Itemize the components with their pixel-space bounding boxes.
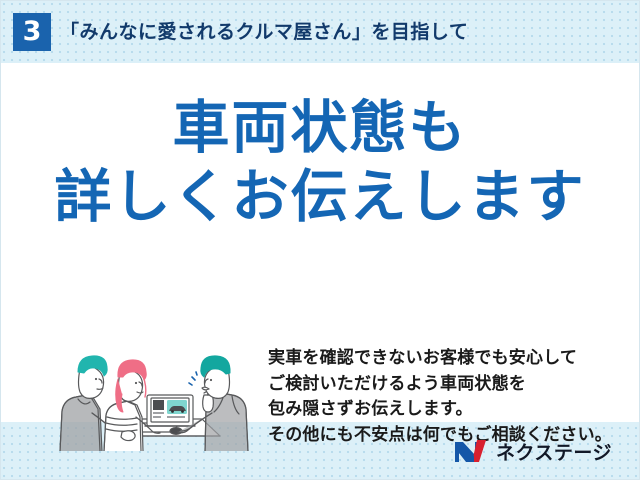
content-panel: 車両状態も 詳しくお伝えします	[0, 63, 640, 422]
nextage-logo-text: ネクステージ	[496, 438, 612, 465]
headline-line-2: 詳しくお伝えします	[0, 164, 640, 231]
headline-line-1: 車両状態も	[0, 95, 640, 162]
body-copy-line-2: ご検討いただけるよう車両状態を	[268, 372, 618, 398]
nextage-logo: ネクステージ	[453, 436, 612, 466]
promo-banner: 3 「みんなに愛されるクルマ屋さん」を目指して 車両状態も 詳しくお伝えします	[0, 0, 640, 480]
banner-header: 3 「みんなに愛されるクルマ屋さん」を目指して	[0, 0, 640, 63]
banner-footer: ネクステージ	[0, 422, 640, 480]
header-title: 「みんなに愛されるクルマ屋さん」を目指して	[60, 17, 468, 44]
section-number-badge: 3	[13, 13, 51, 51]
body-copy-line-3: 包み隠さずお伝えします。	[268, 397, 618, 423]
headline: 車両状態も 詳しくお伝えします	[0, 95, 640, 232]
nextage-n-logo-icon	[453, 438, 489, 464]
body-copy-line-1: 実車を確認できないお客様でも安心して	[268, 346, 618, 372]
